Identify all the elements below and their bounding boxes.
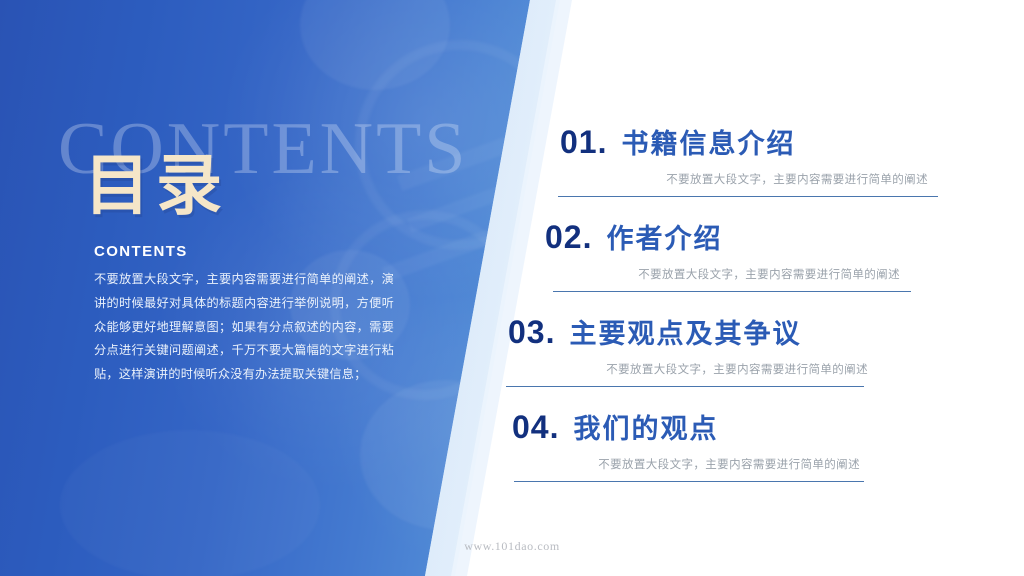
contents-entry-01-underline xyxy=(558,196,938,197)
contents-entry-02[interactable]: 02. 作者介绍 不要放置大段文字，主要内容需要进行简单的阐述 xyxy=(545,221,911,292)
contents-entry-03-underline xyxy=(506,386,864,387)
contents-entry-01[interactable]: 01. 书籍信息介绍 不要放置大段文字，主要内容需要进行简单的阐述 xyxy=(560,126,938,197)
contents-entry-03-head: 03. 主要观点及其争议 xyxy=(508,316,868,348)
contents-entry-04-underline xyxy=(514,481,864,482)
contents-entry-04-title: 我们的观点 xyxy=(573,416,718,443)
contents-entry-02-description: 不要放置大段文字，主要内容需要进行简单的阐述 xyxy=(545,266,900,282)
contents-entry-01-number: 01. xyxy=(560,126,607,158)
contents-entry-01-description: 不要放置大段文字，主要内容需要进行简单的阐述 xyxy=(560,171,928,187)
contents-entry-02-title: 作者介绍 xyxy=(606,226,722,253)
contents-entry-04[interactable]: 04. 我们的观点 不要放置大段文字，主要内容需要进行简单的阐述 xyxy=(512,411,864,482)
contents-entry-01-title: 书籍信息介绍 xyxy=(621,131,795,158)
contents-list: 01. 书籍信息介绍 不要放置大段文字，主要内容需要进行简单的阐述 02. 作者… xyxy=(0,0,1024,576)
contents-entry-03-title: 主要观点及其争议 xyxy=(569,321,801,348)
contents-entry-03-number: 03. xyxy=(508,316,555,348)
contents-entry-04-head: 04. 我们的观点 xyxy=(512,411,864,443)
contents-entry-01-head: 01. 书籍信息介绍 xyxy=(560,126,938,158)
contents-entry-04-number: 04. xyxy=(512,411,559,443)
contents-entry-03[interactable]: 03. 主要观点及其争议 不要放置大段文字，主要内容需要进行简单的阐述 xyxy=(508,316,868,387)
contents-entry-03-description: 不要放置大段文字，主要内容需要进行简单的阐述 xyxy=(508,361,868,377)
contents-entry-02-number: 02. xyxy=(545,221,592,253)
contents-entry-04-description: 不要放置大段文字，主要内容需要进行简单的阐述 xyxy=(512,456,860,472)
slide-canvas: CONTENTS 目录 CONTENTS 不要放置大段文字，主要内容需要进行简单… xyxy=(0,0,1024,576)
contents-entry-02-underline xyxy=(553,291,911,292)
footer-url: www.101dao.com xyxy=(0,539,1024,554)
contents-entry-02-head: 02. 作者介绍 xyxy=(545,221,911,253)
